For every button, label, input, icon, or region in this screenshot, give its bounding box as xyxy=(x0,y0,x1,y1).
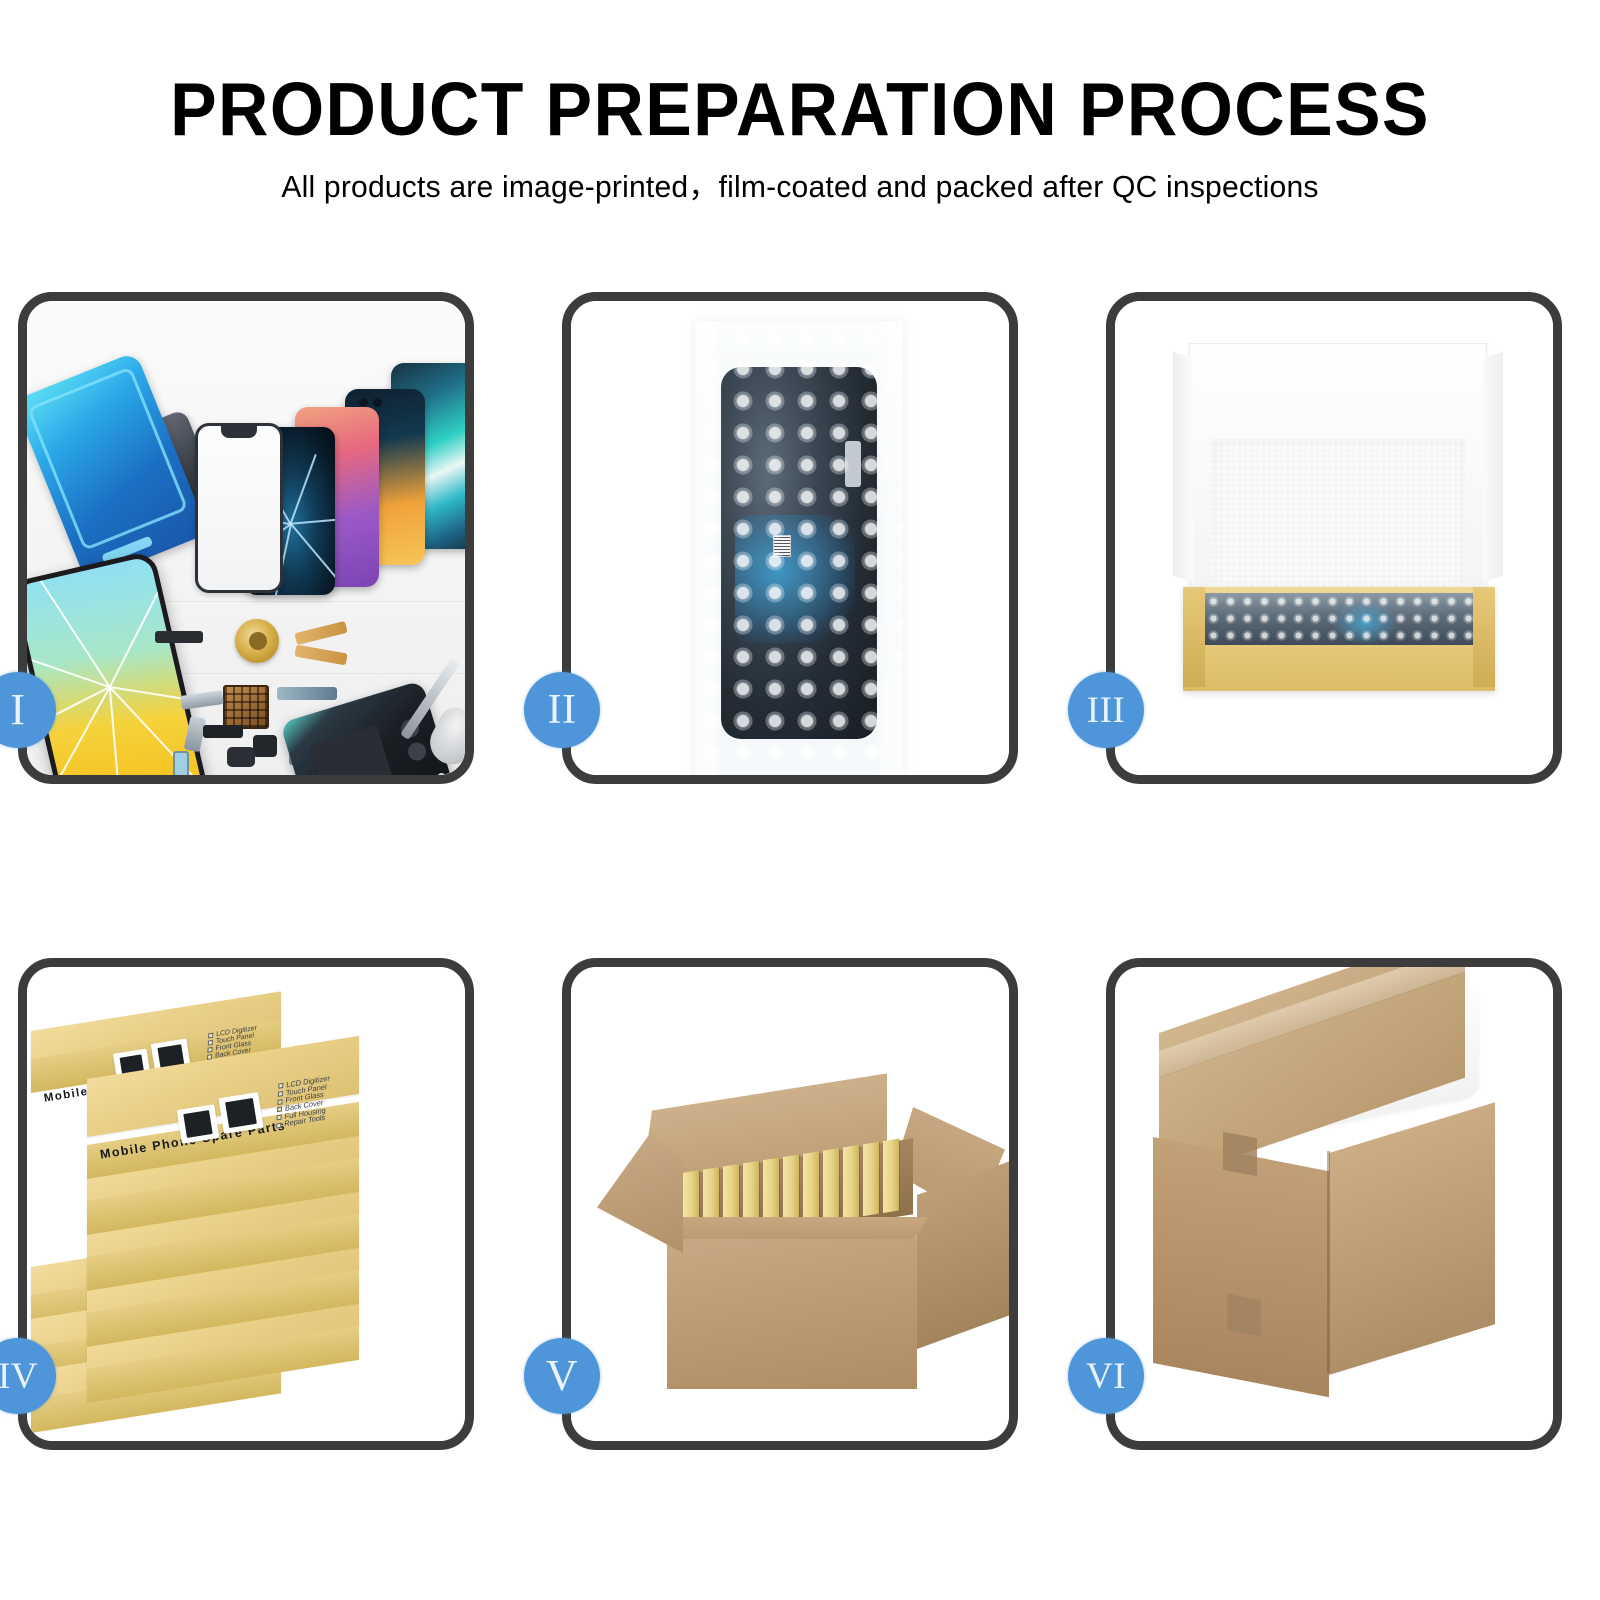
camera-module-part xyxy=(227,747,255,767)
box-product-photo xyxy=(218,1092,263,1134)
step-image-6 xyxy=(1115,967,1553,1441)
step-image-4: Mobile Phone Spare Parts LCD Digitizer T… xyxy=(27,967,465,1441)
step-badge-5: V xyxy=(524,1338,600,1414)
step-image-1: 08:08 xyxy=(27,301,465,775)
step-badge-2: II xyxy=(524,672,600,748)
carton-front-panel xyxy=(667,1239,917,1389)
vibration-motor-part xyxy=(203,725,243,738)
carton-corner-seam xyxy=(1327,1151,1330,1373)
bag-seal-edges xyxy=(695,321,903,775)
step-badge-6: VI xyxy=(1068,1338,1144,1414)
step-panel-6 xyxy=(1106,958,1562,1450)
bubble-wrap-bag xyxy=(695,321,903,775)
bubble-wrap-scene xyxy=(571,301,1009,775)
wireless-charging-coil xyxy=(235,619,279,663)
flex-cable-gray-c xyxy=(277,687,337,700)
earpiece-speaker-part xyxy=(155,631,203,643)
step-image-2 xyxy=(571,301,1009,775)
tempered-glass-protector xyxy=(195,423,283,593)
step-image-3 xyxy=(1115,301,1553,775)
carton-tape-tab-upper xyxy=(1223,1132,1257,1177)
sealed-carton-scene xyxy=(1115,967,1553,1441)
page-subtitle: All products are image-printed，film-coat… xyxy=(24,168,1576,205)
step-panel-4: Mobile Phone Spare Parts LCD Digitizer T… xyxy=(18,958,474,1450)
inner-box-scene xyxy=(1115,301,1553,775)
step-panel-5 xyxy=(562,958,1018,1450)
page-title: PRODUCT PREPARATION PROCESS xyxy=(56,72,1544,147)
step-panel-3 xyxy=(1106,292,1562,784)
ic-chip-part xyxy=(223,685,269,729)
step-badge-3: III xyxy=(1068,672,1144,748)
foam-sheet xyxy=(1211,439,1465,591)
gold-box-stack-scene: Mobile Phone Spare Parts LCD Digitizer T… xyxy=(27,967,465,1441)
bubble-wrapped-contents xyxy=(1205,593,1473,645)
sim-tray-part xyxy=(173,751,189,775)
camera-module-part xyxy=(253,735,277,757)
step-image-5 xyxy=(571,967,1009,1441)
box-product-photo xyxy=(177,1104,220,1144)
screws-set xyxy=(437,771,465,775)
carton-tape-tab-lower xyxy=(1227,1294,1261,1337)
box-checklist: LCD Digitizer Touch Panel Front Glass Ba… xyxy=(276,1074,330,1129)
step-panel-1: 08:08 xyxy=(18,292,474,784)
carton-filling-scene xyxy=(571,967,1009,1441)
parts-overview-scene: 08:08 xyxy=(27,301,465,775)
page-header: PRODUCT PREPARATION PROCESS All products… xyxy=(0,0,1600,250)
step-panel-2 xyxy=(562,292,1018,784)
gold-box-tray xyxy=(1183,587,1495,691)
carton-front-panel xyxy=(1153,1137,1329,1397)
